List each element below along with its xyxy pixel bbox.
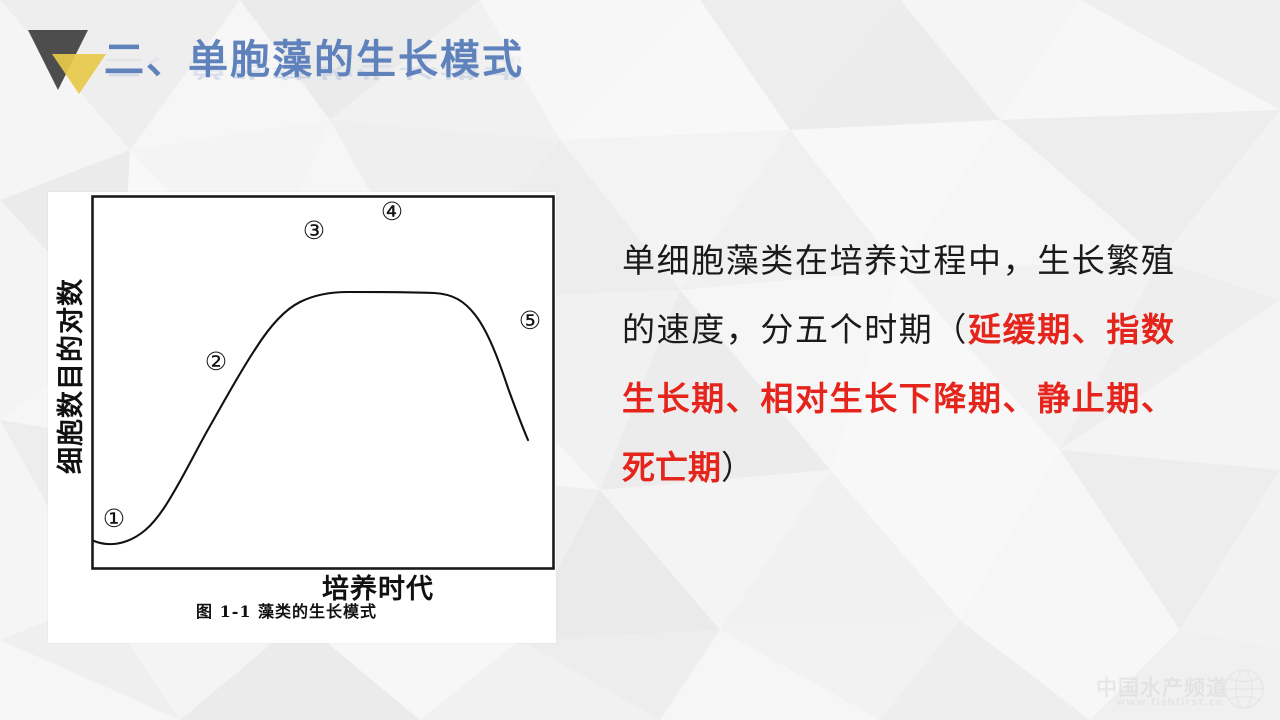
chart-label-5: ⑤ [519,306,541,335]
figure-caption: 图 1-1 藻类的生长模式 [196,598,377,622]
body-segment-plain-2: ） [721,448,754,487]
chart-label-4: ④ [381,197,403,226]
algae-growth-chart: ① ② ③ ④ ⑤ 细胞数目的对数 培养时代 [48,192,556,643]
chart-y-axis-label: 细胞数目的对数 [55,278,87,474]
body-paragraph: 单细胞藻类在培养过程中，生长繁殖的速度，分五个时期（延缓期、指数生长期、相对生长… [622,226,1174,502]
slide-title-block: 二、单胞藻的生长模式 二、单胞藻的生长模式 [104,32,524,104]
figure-card: ① ② ③ ④ ⑤ 细胞数目的对数 培养时代 图 1-1 藻类的生长模式 [48,192,556,643]
slide-header: 二、单胞藻的生长模式 二、单胞藻的生长模式 [0,0,1280,118]
chart-label-1: ① [103,504,125,533]
page-title-reflection: 二、单胞藻的生长模式 [104,49,524,84]
slide-canvas: 二、单胞藻的生长模式 二、单胞藻的生长模式 ① ② ③ ④ ⑤ 细胞数目的对数 … [0,0,1280,720]
watermark: 中国水产频道 www.fishfirst.cn [1090,668,1272,716]
chart-label-3: ③ [303,216,325,245]
chart-label-2: ② [205,347,227,376]
watermark-url: www.fishfirst.cn [1116,697,1224,708]
triangle-logo-icon [26,28,112,98]
